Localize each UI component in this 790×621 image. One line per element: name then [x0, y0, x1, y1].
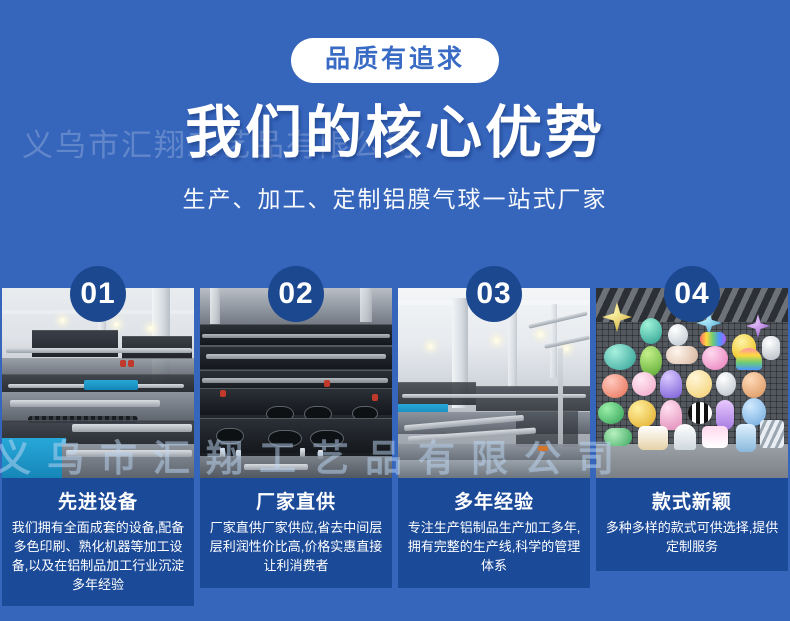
card-number-badge: 03: [466, 266, 522, 322]
card-title: 多年经验: [405, 487, 583, 514]
card-title: 先进设备: [9, 487, 187, 514]
card-body-01: 先进设备 我们拥有全面成套的设备,配备多色印刷、熟化机器等加工设备,以及在铝制品…: [2, 478, 194, 606]
card-number-badge: 02: [268, 266, 324, 322]
promo-banner: 义乌市汇翔工艺品有限公司 品质有追求 我们的核心优势 生产、加工、定制铝膜气球一…: [0, 0, 790, 621]
card-description: 专注生产铝制品生产加工多年,拥有完整的生产线,科学的管理体系: [405, 519, 583, 576]
card-body-04: 款式新颖 多种多样的款式可供选择,提供定制服务: [596, 478, 788, 571]
card-body-03: 多年经验 专注生产铝制品生产加工多年,拥有完整的生产线,科学的管理体系: [398, 478, 590, 588]
page-subtitle: 生产、加工、定制铝膜气球一站式厂家: [0, 180, 790, 214]
quality-pill-badge: 品质有追求: [291, 38, 499, 83]
card-body-02: 厂家直供 厂家直供厂家供应,省去中间层层利润性价比高,价格实惠直接让利消费者: [200, 478, 392, 588]
advantage-card-01[interactable]: 01: [2, 288, 194, 606]
page-title: 我们的核心优势: [0, 104, 790, 164]
card-description: 厂家直供厂家供应,省去中间层层利润性价比高,价格实惠直接让利消费者: [207, 519, 385, 576]
advantage-card-list: 01: [0, 288, 790, 606]
header: 品质有追求 我们的核心优势 生产、加工、定制铝膜气球一站式厂家: [0, 0, 790, 214]
card-title: 厂家直供: [207, 487, 385, 514]
advantage-card-02[interactable]: 02: [200, 288, 392, 606]
card-description: 多种多样的款式可供选择,提供定制服务: [603, 519, 781, 557]
card-description: 我们拥有全面成套的设备,配备多色印刷、熟化机器等加工设备,以及在铝制品加工行业沉…: [9, 519, 187, 594]
card-title: 款式新颖: [603, 487, 781, 514]
advantage-card-04[interactable]: 04: [596, 288, 788, 606]
advantage-card-03[interactable]: 03: [398, 288, 590, 606]
card-number-badge: 04: [664, 266, 720, 322]
card-number-badge: 01: [70, 266, 126, 322]
